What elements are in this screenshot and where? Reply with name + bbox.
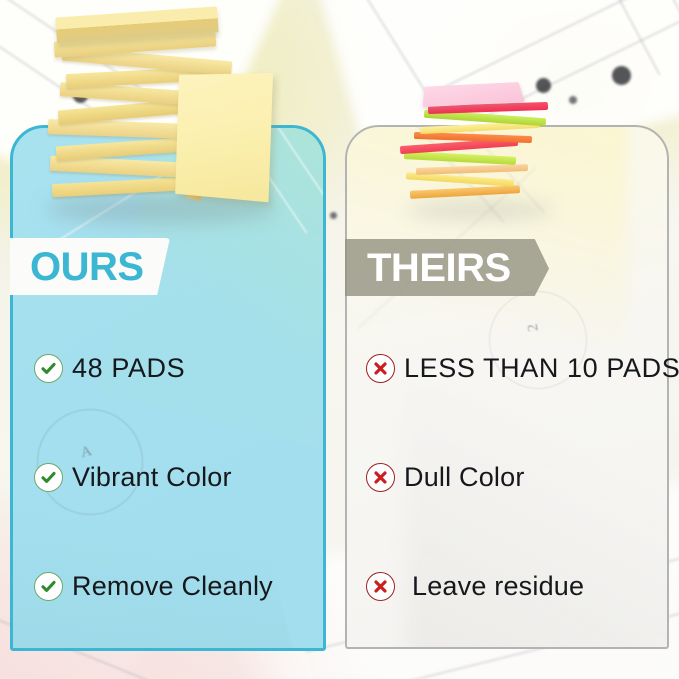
feature-label: Leave residue xyxy=(412,571,584,602)
feature-row: Dull Color xyxy=(366,457,666,497)
product-image-theirs-color-pad-stack xyxy=(398,78,578,218)
red-cross-icon xyxy=(366,354,395,383)
badge-ours: OURS xyxy=(10,238,170,295)
feature-label: Vibrant Color xyxy=(72,462,232,493)
red-cross-icon xyxy=(366,572,395,601)
feature-row: Vibrant Color xyxy=(34,457,324,497)
comparison-infographic: A 2 xyxy=(0,0,679,679)
red-cross-icon xyxy=(366,463,395,492)
feature-row: 48 PADS xyxy=(34,348,324,388)
blueprint-dot xyxy=(612,66,631,85)
badge-theirs-label: THEIRS xyxy=(367,248,511,288)
feature-label: 48 PADS xyxy=(72,353,185,384)
feature-label: Remove Cleanly xyxy=(72,571,273,602)
green-check-icon xyxy=(34,572,63,601)
green-check-icon xyxy=(34,463,63,492)
feature-label: LESS THAN 10 PADS xyxy=(404,353,679,384)
blueprint-dot xyxy=(330,212,337,219)
feature-row: LESS THAN 10 PADS xyxy=(366,348,666,388)
badge-ours-label: OURS xyxy=(30,247,144,287)
feature-row: Remove Cleanly xyxy=(34,566,324,606)
green-check-icon xyxy=(34,354,63,383)
product-image-ours-yellow-pad-stack xyxy=(40,8,300,223)
feature-list-ours: 48 PADS Vibrant Color Remove Cleanly xyxy=(34,348,324,675)
feature-list-theirs: LESS THAN 10 PADS Dull Color Leave resid… xyxy=(366,348,666,675)
badge-theirs: THEIRS xyxy=(345,239,549,296)
feature-label: Dull Color xyxy=(404,462,525,493)
feature-row: Leave residue xyxy=(366,566,666,606)
